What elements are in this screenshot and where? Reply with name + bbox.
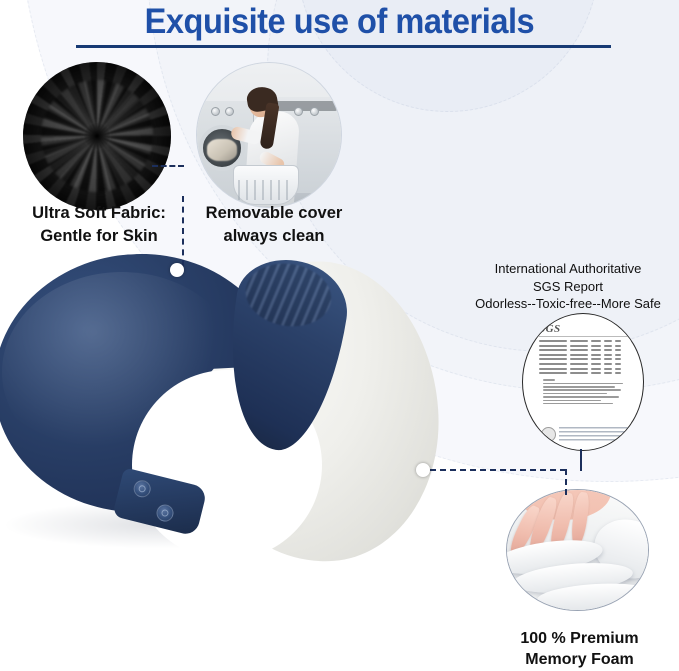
caption-line: Removable cover xyxy=(186,202,362,225)
sgs-cell xyxy=(539,340,567,342)
page-title: Exquisite use of materials xyxy=(145,2,535,42)
foam-connector-line-vertical xyxy=(565,469,567,495)
snap-button[interactable] xyxy=(132,478,153,499)
caption-sgs-report: International Authoritative SGS Report O… xyxy=(457,260,679,313)
foam-connector-line-horizontal xyxy=(430,469,566,471)
appliance-knob xyxy=(294,107,303,116)
caption-line: Odorless--Toxic-free--More Safe xyxy=(457,295,679,313)
sgs-cell xyxy=(591,368,601,370)
sgs-cell xyxy=(539,368,567,370)
fabric-connector-line xyxy=(152,165,184,167)
sgs-cell xyxy=(591,358,601,360)
sgs-text-line xyxy=(543,393,607,395)
sgs-cell xyxy=(604,372,612,374)
caption-line: 100 % Premium xyxy=(480,628,679,649)
sgs-cell xyxy=(591,340,601,342)
sgs-table-row xyxy=(539,363,629,365)
sgs-cell xyxy=(615,340,621,342)
fabric-swatch-photo xyxy=(23,62,171,210)
appliance-control-panel xyxy=(271,101,337,111)
sgs-cell xyxy=(570,368,588,370)
sgs-cell xyxy=(570,349,588,351)
sgs-report-page: SGS xyxy=(537,320,631,448)
caption-line: always clean xyxy=(186,225,362,248)
product-infographic: Exquisite use of materials Ultra Soft Fa… xyxy=(0,0,679,671)
sgs-cell xyxy=(570,358,588,360)
sgs-text-line xyxy=(543,396,619,398)
sgs-text-line xyxy=(543,386,615,388)
sgs-cell xyxy=(539,363,567,365)
sgs-cell xyxy=(570,354,588,356)
sgs-cell xyxy=(615,345,621,347)
caption-line: International Authoritative xyxy=(457,260,679,278)
sgs-cell xyxy=(615,358,621,360)
washing-machine-photo xyxy=(196,62,342,208)
sgs-cell xyxy=(615,363,621,365)
sgs-cell xyxy=(591,349,601,351)
appliance-knob xyxy=(225,107,234,116)
sgs-cell xyxy=(591,354,601,356)
sgs-table-row xyxy=(539,372,629,374)
sgs-logo: SGS xyxy=(539,323,631,335)
sgs-seal-stamp xyxy=(541,427,556,442)
sgs-cell xyxy=(570,345,588,347)
caption-line: Gentle for Skin xyxy=(6,225,192,248)
sgs-cell xyxy=(539,372,567,374)
appliance-knob xyxy=(211,107,220,116)
sgs-cell xyxy=(615,372,621,374)
sgs-cell xyxy=(539,358,567,360)
sgs-cell xyxy=(604,354,612,356)
sgs-table-row xyxy=(539,368,629,370)
sgs-cell xyxy=(604,368,612,370)
sgs-table-row xyxy=(539,349,629,351)
sgs-text-line xyxy=(543,383,623,385)
sgs-cell xyxy=(570,363,588,365)
caption-line: Memory Foam xyxy=(480,649,679,670)
sgs-table-row xyxy=(539,354,629,356)
sgs-signature-block xyxy=(559,427,629,443)
appliance-knob xyxy=(310,107,319,116)
snap-button[interactable] xyxy=(155,503,176,524)
title-underline xyxy=(76,45,611,48)
laundry-inside-drum xyxy=(207,139,237,161)
sgs-cell xyxy=(570,340,588,342)
callout-marker-foam xyxy=(416,463,430,477)
sgs-header-rule xyxy=(539,336,629,337)
sgs-connector-line xyxy=(580,449,582,471)
sgs-text-line xyxy=(543,379,555,381)
sgs-footnote-block xyxy=(543,379,629,404)
sgs-table-header xyxy=(539,340,629,342)
sgs-table-row xyxy=(539,358,629,360)
caption-ultra-soft-fabric: Ultra Soft Fabric: Gentle for Skin xyxy=(6,202,192,248)
sgs-report-document-photo: SGS xyxy=(522,313,644,451)
caption-divider-dashed-line xyxy=(182,196,184,266)
sgs-cell xyxy=(591,345,601,347)
sgs-text-line xyxy=(543,403,613,405)
sgs-cell xyxy=(539,345,567,347)
sgs-cell xyxy=(591,363,601,365)
caption-removable-cover: Removable cover always clean xyxy=(186,202,362,248)
fabric-swirl-core xyxy=(84,123,110,149)
sgs-text-line xyxy=(543,400,601,402)
sgs-cell xyxy=(604,340,612,342)
sgs-table-row xyxy=(539,345,629,347)
caption-line: SGS Report xyxy=(457,278,679,296)
sgs-cell xyxy=(604,358,612,360)
sgs-cell xyxy=(604,363,612,365)
callout-marker-cover xyxy=(170,263,184,277)
caption-line: Ultra Soft Fabric: xyxy=(6,202,192,225)
sgs-cell xyxy=(615,349,621,351)
sgs-cell xyxy=(591,372,601,374)
sgs-cell xyxy=(539,354,567,356)
hand-pressing-memory-foam-photo xyxy=(506,489,649,611)
sgs-text-line xyxy=(543,389,621,391)
sgs-cell xyxy=(615,354,621,356)
sgs-cell xyxy=(604,345,612,347)
sgs-cell xyxy=(570,372,588,374)
sgs-cell xyxy=(604,349,612,351)
sgs-cell xyxy=(615,368,621,370)
sgs-cell xyxy=(539,349,567,351)
u-shaped-travel-pillow xyxy=(0,252,422,582)
laundry-basket xyxy=(233,165,299,205)
caption-memory-foam: 100 % Premium Memory Foam xyxy=(480,628,679,670)
